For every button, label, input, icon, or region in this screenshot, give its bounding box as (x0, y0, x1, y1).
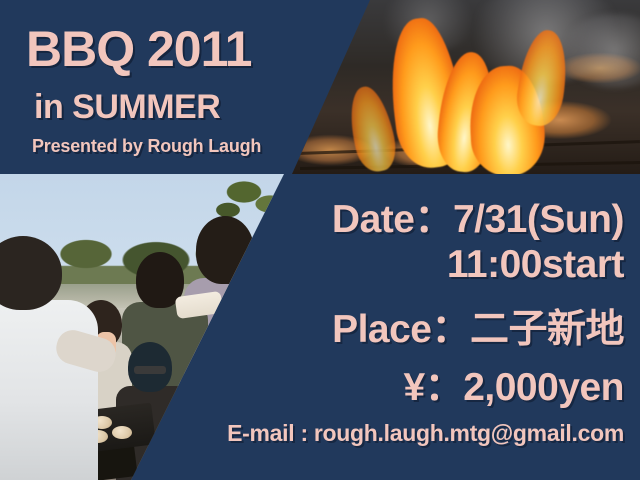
poster-subtitle: in SUMMER (34, 88, 220, 127)
grilled-food (112, 426, 132, 439)
bbq-event-poster: BBQ 2011 in SUMMER Presented by Rough La… (0, 0, 640, 480)
person-figure (0, 300, 98, 480)
event-time-line: 11:00start (447, 243, 624, 287)
poster-title: BBQ 2011 (26, 20, 251, 78)
person-hair (196, 216, 254, 284)
eyeglasses (134, 366, 166, 374)
contact-email[interactable]: E-mail : rough.laugh.mtg@gmail.com (227, 420, 624, 447)
event-place-line: Place：二子新地 (332, 298, 624, 354)
poster-credit-line: Presented by Rough Laugh (32, 136, 261, 157)
event-fee-line: ¥：2,000yen (404, 356, 625, 412)
event-date-line: Date：7/31(Sun) (332, 188, 624, 244)
